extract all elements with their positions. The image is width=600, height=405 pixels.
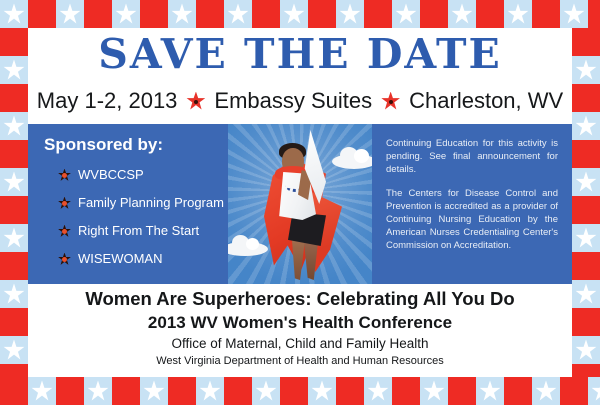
border-red-square [28, 0, 56, 28]
border-red-square [572, 308, 600, 336]
border-red-square [588, 0, 600, 28]
border-left [0, 28, 28, 377]
border-red-square [572, 252, 600, 280]
border-star-square [0, 224, 28, 252]
star-bullet-icon [58, 253, 71, 266]
border-star-square [168, 0, 196, 28]
border-star-square [588, 377, 600, 405]
star-bullet-icon [58, 197, 71, 210]
border-red-square [56, 377, 84, 405]
border-red-square [532, 0, 560, 28]
border-star-square [0, 168, 28, 196]
border-star-square [532, 377, 560, 405]
accreditation-paragraph-1: Continuing Education for this activity i… [386, 137, 558, 176]
star-bullet-icon [58, 225, 71, 238]
border-red-square [280, 377, 308, 405]
sponsor-label: WISEWOMAN [78, 248, 163, 270]
superhero-illustration [228, 124, 372, 284]
border-star-square [280, 0, 308, 28]
middle-blue-band: Sponsored by: WVBCCSP Family Planning Pr… [28, 124, 572, 284]
border-red-square [140, 0, 168, 28]
star-bullet-icon [58, 169, 71, 182]
border-star-square [572, 336, 600, 364]
sponsor-item: WISEWOMAN [58, 248, 228, 270]
border-star-square [572, 280, 600, 308]
border-red-square [0, 84, 28, 112]
sponsors-panel: Sponsored by: WVBCCSP Family Planning Pr… [28, 124, 228, 284]
border-star-square [336, 0, 364, 28]
save-the-date-flyer: SAVE THE DATE May 1-2, 2013 Embassy Suit… [0, 0, 600, 405]
border-red-square [420, 0, 448, 28]
border-star-square [392, 0, 420, 28]
department-name: West Virginia Department of Health and H… [28, 353, 572, 369]
border-star-square [0, 112, 28, 140]
border-red-square [0, 196, 28, 224]
border-star-square [572, 168, 600, 196]
border-star-square [572, 224, 600, 252]
border-star-square [560, 0, 588, 28]
border-red-square [112, 377, 140, 405]
border-star-square [56, 0, 84, 28]
border-red-square [392, 377, 420, 405]
border-red-square [308, 0, 336, 28]
border-red-square [0, 140, 28, 168]
border-red-square [572, 140, 600, 168]
border-star-square [196, 377, 224, 405]
border-red-square [364, 0, 392, 28]
border-red-square [84, 0, 112, 28]
border-red-square [0, 364, 28, 377]
border-red-square [224, 377, 252, 405]
event-city: Charleston, WV [409, 86, 563, 116]
border-red-square [168, 377, 196, 405]
border-star-square [448, 0, 476, 28]
conference-theme: Women Are Superheroes: Celebrating All Y… [28, 286, 572, 311]
border-red-square [572, 28, 600, 56]
leg [304, 242, 318, 280]
sponsors-heading: Sponsored by: [44, 134, 228, 156]
office-name: Office of Maternal, Child and Family Hea… [28, 334, 572, 353]
footer-block: Women Are Superheroes: Celebrating All Y… [28, 286, 572, 369]
border-star-square [308, 377, 336, 405]
sponsor-item: Right From The Start [58, 220, 228, 242]
red-star-icon [381, 92, 400, 111]
border-star-square [28, 377, 56, 405]
border-red-square [0, 377, 28, 405]
border-star-square [0, 0, 28, 28]
border-red-square [196, 0, 224, 28]
accreditation-panel: Continuing Education for this activity i… [372, 124, 572, 284]
border-star-square [572, 112, 600, 140]
red-star-icon [186, 92, 205, 111]
border-red-square [0, 308, 28, 336]
border-star-square [252, 377, 280, 405]
border-red-square [560, 377, 588, 405]
border-top [0, 0, 600, 28]
border-right [572, 28, 600, 377]
border-red-square [476, 0, 504, 28]
border-star-square [0, 56, 28, 84]
border-star-square [420, 377, 448, 405]
border-star-square [112, 0, 140, 28]
border-red-square [0, 28, 28, 56]
sponsor-item: WVBCCSP [58, 164, 228, 186]
accreditation-paragraph-2: The Centers for Disease Control and Prev… [386, 187, 558, 252]
border-star-square [140, 377, 168, 405]
headline-save-the-date: SAVE THE DATE [28, 30, 572, 78]
border-red-square [572, 84, 600, 112]
border-bottom [0, 377, 600, 405]
border-star-square [0, 336, 28, 364]
border-red-square [572, 196, 600, 224]
border-star-square [504, 0, 532, 28]
border-red-square [252, 0, 280, 28]
sponsor-label: Family Planning Program [78, 192, 224, 214]
border-star-square [0, 280, 28, 308]
border-star-square [364, 377, 392, 405]
border-star-square [224, 0, 252, 28]
conference-name: 2013 WV Women's Health Conference [28, 311, 572, 334]
event-dateline: May 1-2, 2013 Embassy Suites Charleston,… [28, 86, 572, 116]
sponsor-label: Right From The Start [78, 220, 199, 242]
sponsor-item: Family Planning Program [58, 192, 228, 214]
border-red-square [336, 377, 364, 405]
border-star-square [572, 56, 600, 84]
event-date: May 1-2, 2013 [37, 86, 178, 116]
border-red-square [0, 252, 28, 280]
border-star-square [84, 377, 112, 405]
event-venue: Embassy Suites [214, 86, 372, 116]
border-red-square [504, 377, 532, 405]
border-star-square [476, 377, 504, 405]
superhero-figure [256, 132, 348, 282]
border-red-square [448, 377, 476, 405]
sponsor-label: WVBCCSP [78, 164, 144, 186]
border-red-square [572, 364, 600, 377]
